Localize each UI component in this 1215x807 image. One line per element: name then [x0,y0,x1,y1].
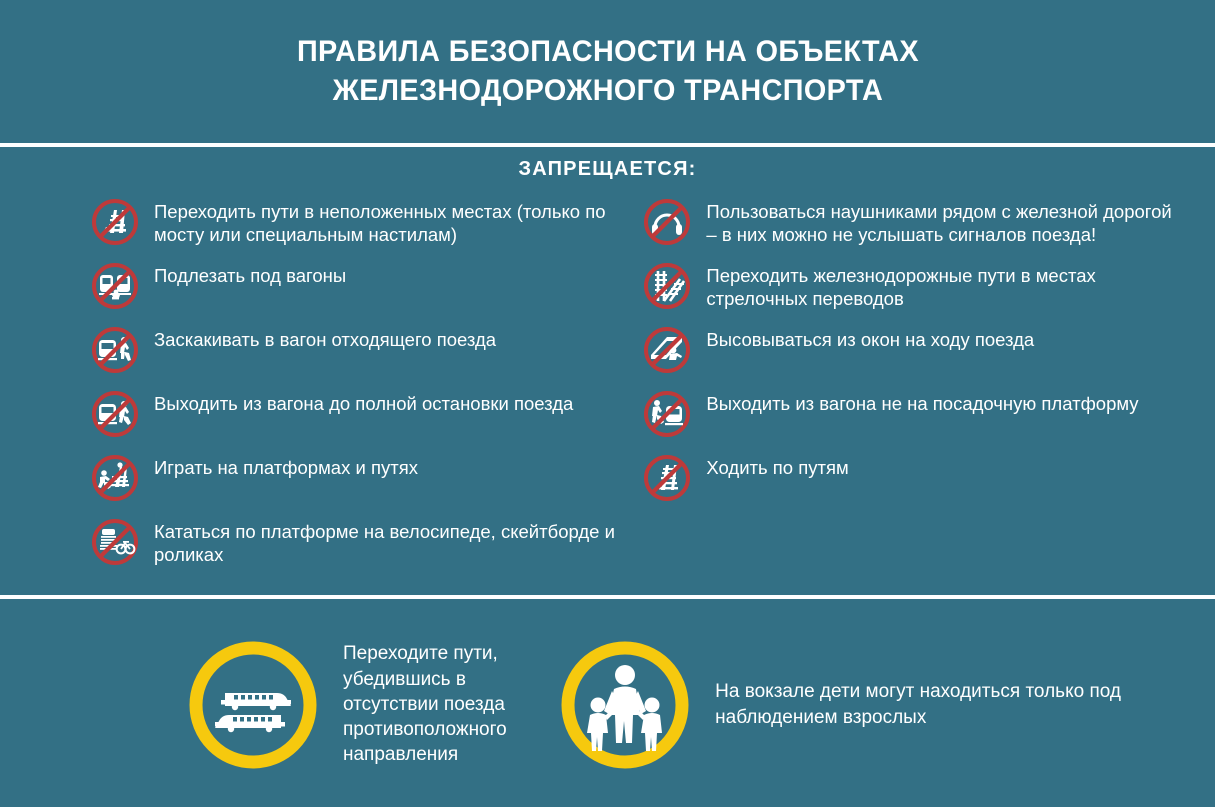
list-item-label: Играть на платформах и путях [154,453,418,479]
prohibited-right-column: Пользоваться наушниками рядом с железной… [632,197,1175,581]
prohibited-left-column: Переходить пути в неположенных местах (т… [90,197,632,581]
no-crossing-tracks-icon [90,197,140,247]
list-item: Высовываться из окон на ходу поезда [642,325,1175,375]
adult-with-children-icon [557,637,693,773]
list-item-label: Ходить по путям [706,453,848,479]
advice-item-label: На вокзале дети могут находиться только … [715,679,1175,730]
advice-section: Переходите пути, убедившись в отсутствии… [0,602,1215,807]
list-item: Пользоваться наушниками рядом с железной… [642,197,1175,247]
no-playing-on-platform-icon [90,453,140,503]
list-item: Переходить пути в неположенных местах (т… [90,197,632,247]
list-item-label: Кататься по платформе на велосипеде, ске… [154,517,632,567]
no-bicycle-skateboard-rollers-icon [90,517,140,567]
advice-item-label: Переходите пути, убедившись в отсутствии… [343,641,557,767]
list-item-label: Заскакивать в вагон отходящего поезда [154,325,496,351]
list-item: Ходить по путям [642,453,1175,503]
prohibited-columns: Переходить пути в неположенных местах (т… [0,197,1215,581]
no-exiting-before-stop-icon [90,389,140,439]
list-item: Подлезать под вагоны [90,261,632,311]
list-item: Переходить железнодорожные пути в местах… [642,261,1175,311]
no-headphones-icon [642,197,692,247]
list-item-label: Переходить пути в неположенных местах (т… [154,197,632,247]
page-title-line-2: ЖЕЛЕЗНОДОРОЖНОГО ТРАНСПОРТА [296,72,918,110]
no-crossing-at-switch-points-icon [642,261,692,311]
list-item-label: Переходить железнодорожные пути в местах… [706,261,1175,311]
list-item-label: Выходить из вагона не на посадочную плат… [706,389,1138,415]
no-walking-on-tracks-icon [642,453,692,503]
list-item-label: Выходить из вагона до полной остановки п… [154,389,573,415]
list-item-label: Подлезать под вагоны [154,261,346,287]
list-item: Кататься по платформе на велосипеде, ске… [90,517,632,567]
list-item-label: Пользоваться наушниками рядом с железной… [706,197,1175,247]
no-leaning-out-of-window-icon [642,325,692,375]
list-item: Играть на платформах и путях [90,453,632,503]
page-title-line-1: ПРАВИЛА БЕЗОПАСНОСТИ НА ОБЪЕКТАХ [296,33,918,71]
no-crawling-under-railcar-icon [90,261,140,311]
two-trains-opposite-directions-icon [185,637,321,773]
no-exit-away-from-platform-icon [642,389,692,439]
prohibited-section: ЗАПРЕЩАЕТСЯ: [0,150,1215,595]
header-banner: ПРАВИЛА БЕЗОПАСНОСТИ НА ОБЪЕКТАХ ЖЕЛЕЗНО… [0,0,1215,143]
advice-item-children: На вокзале дети могут находиться только … [557,637,1175,773]
page-title: ПРАВИЛА БЕЗОПАСНОСТИ НА ОБЪЕКТАХ ЖЕЛЕЗНО… [296,33,918,110]
no-jumping-into-moving-train-icon [90,325,140,375]
list-item: Выходить из вагона до полной остановки п… [90,389,632,439]
list-item: Выходить из вагона не на посадочную плат… [642,389,1175,439]
list-item: Заскакивать в вагон отходящего поезда [90,325,632,375]
advice-item-crossing: Переходите пути, убедившись в отсутствии… [185,637,557,773]
prohibited-section-label: ЗАПРЕЩАЕТСЯ: [0,158,1215,181]
list-item-label: Высовываться из окон на ходу поезда [706,325,1034,351]
